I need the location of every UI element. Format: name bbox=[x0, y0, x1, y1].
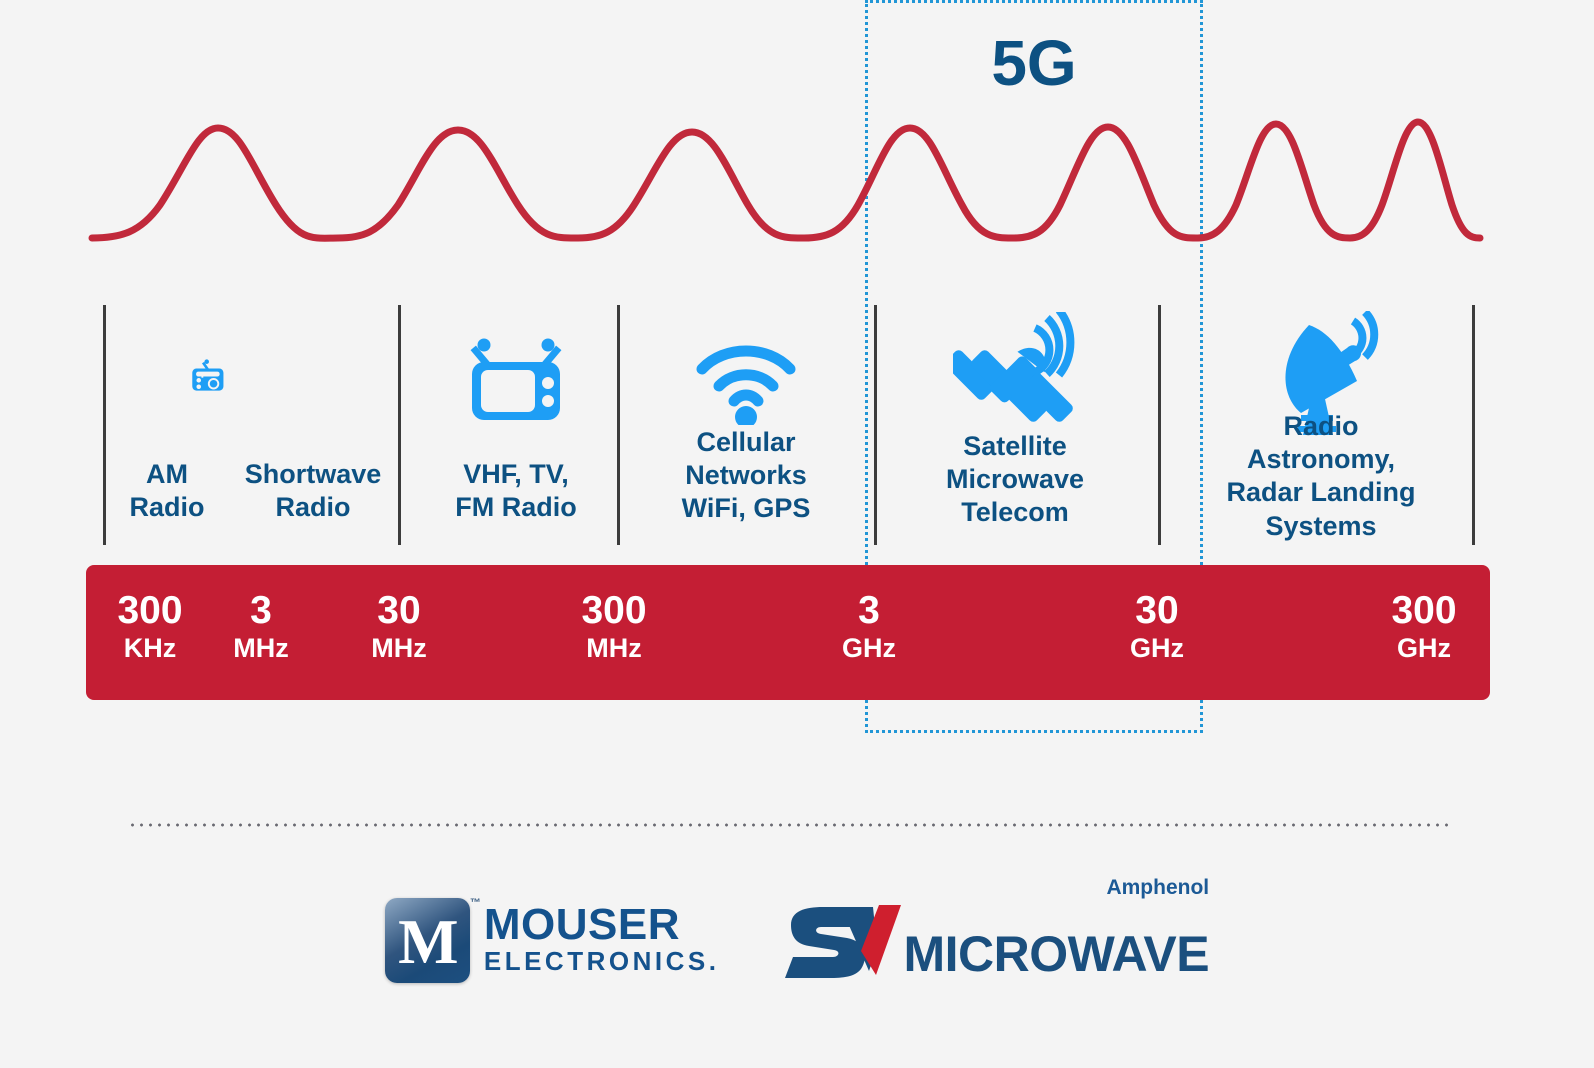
sv-microwave-logo[interactable]: Amphenol MICROWAVE bbox=[781, 901, 1209, 979]
band-label-am-radio: AMRadio bbox=[106, 458, 228, 524]
freq-tick-1-unit: MHz bbox=[206, 632, 316, 664]
freq-tick-6-value: 300 bbox=[1364, 591, 1484, 632]
freq-tick-2-unit: MHz bbox=[344, 632, 454, 664]
freq-tick-2: 30 MHz bbox=[344, 591, 454, 664]
sv-mark-icon bbox=[781, 901, 909, 979]
freq-tick-0-unit: KHz bbox=[90, 632, 210, 664]
band-label-satellite: SatelliteMicrowaveTelecom bbox=[900, 430, 1130, 530]
freq-tick-3-unit: MHz bbox=[556, 632, 672, 664]
freq-tick-5: 30 GHz bbox=[1102, 591, 1212, 664]
freq-tick-3-value: 300 bbox=[556, 591, 672, 632]
band-divider-4 bbox=[874, 305, 877, 545]
band-section: AMRadio ShortwaveRadio bbox=[0, 300, 1594, 565]
footer-divider bbox=[128, 823, 1448, 827]
fiveg-highlight-top-edge bbox=[865, 0, 1203, 3]
spectrum-wave bbox=[0, 105, 1594, 255]
television-icon bbox=[420, 300, 612, 425]
freq-tick-0-value: 300 bbox=[90, 591, 210, 632]
freq-tick-5-value: 30 bbox=[1102, 591, 1212, 632]
freq-tick-1-value: 3 bbox=[206, 591, 316, 632]
band-divider-3 bbox=[617, 305, 620, 545]
radio-icon bbox=[106, 300, 228, 425]
mouser-trademark-icon: ™ bbox=[470, 897, 481, 909]
logo-row: M ™ MOUSER ELECTRONICS. Amphenol MICROWA… bbox=[0, 880, 1594, 1000]
band-divider-2 bbox=[398, 305, 401, 545]
band-vhf-tv-fm[interactable]: VHF, TV,FM Radio bbox=[420, 300, 612, 550]
freq-tick-5-unit: GHz bbox=[1102, 632, 1212, 664]
band-am-radio[interactable]: AMRadio bbox=[106, 300, 228, 550]
freq-tick-6-unit: GHz bbox=[1364, 632, 1484, 664]
mouser-subtitle: ELECTRONICS. bbox=[484, 947, 720, 977]
band-label-vhf-tv-fm: VHF, TV,FM Radio bbox=[420, 458, 612, 524]
freq-tick-6: 300 GHz bbox=[1364, 591, 1484, 664]
band-satellite[interactable]: SatelliteMicrowaveTelecom bbox=[900, 300, 1130, 550]
freq-tick-4-unit: GHz bbox=[814, 632, 924, 664]
mouser-wordmark: MOUSER ELECTRONICS. bbox=[484, 903, 720, 978]
band-label-shortwave-radio: ShortwaveRadio bbox=[232, 458, 394, 524]
wifi-icon bbox=[640, 300, 852, 425]
mouser-mark-icon: M ™ bbox=[385, 898, 470, 983]
band-divider-5 bbox=[1158, 305, 1161, 545]
satellite-icon bbox=[900, 300, 1130, 425]
freq-tick-3: 300 MHz bbox=[556, 591, 672, 664]
fiveg-label: 5G bbox=[865, 26, 1203, 100]
freq-tick-0: 300 KHz bbox=[90, 591, 210, 664]
band-cellular[interactable]: CellularNetworksWiFi, GPS bbox=[640, 300, 852, 550]
mouser-name: MOUSER bbox=[484, 903, 720, 948]
mouser-electronics-logo[interactable]: M ™ MOUSER ELECTRONICS. bbox=[385, 898, 720, 983]
freq-tick-1: 3 MHz bbox=[206, 591, 316, 664]
band-label-radio-astronomy: RadioAstronomy,Radar LandingSystems bbox=[1180, 410, 1462, 543]
freq-tick-4: 3 GHz bbox=[814, 591, 924, 664]
band-divider-6 bbox=[1472, 305, 1475, 545]
infographic-canvas: 5G bbox=[0, 0, 1594, 1068]
frequency-scale-bar: 300 KHz 3 MHz 30 MHz 300 MHz 3 GHz 30 GH… bbox=[86, 565, 1490, 700]
band-label-cellular: CellularNetworksWiFi, GPS bbox=[640, 426, 852, 526]
sv-microwave-wordmark: MICROWAVE bbox=[903, 929, 1209, 979]
sv-amphenol-text: Amphenol bbox=[1106, 876, 1209, 900]
freq-tick-4-value: 3 bbox=[814, 591, 924, 632]
freq-tick-2-value: 30 bbox=[344, 591, 454, 632]
mouser-mark-letter: M bbox=[398, 910, 456, 974]
wave-path bbox=[92, 122, 1480, 238]
band-radio-astronomy[interactable]: RadioAstronomy,Radar LandingSystems bbox=[1180, 300, 1462, 550]
band-shortwave-radio[interactable]: ShortwaveRadio bbox=[232, 300, 394, 550]
